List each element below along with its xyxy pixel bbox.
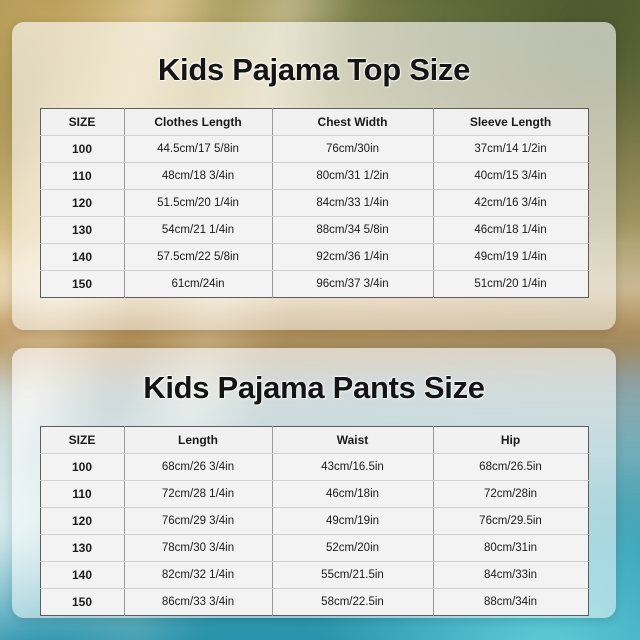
cell-value: 55cm/21.5in bbox=[272, 562, 433, 589]
cell-value: 68cm/26 3/4in bbox=[124, 454, 272, 481]
table-row: 120 76cm/29 3/4in 49cm/19in 76cm/29.5in bbox=[40, 508, 588, 535]
table-row: 100 68cm/26 3/4in 43cm/16.5in 68cm/26.5i… bbox=[40, 454, 588, 481]
cell-value: 78cm/30 3/4in bbox=[124, 535, 272, 562]
cell-size: 120 bbox=[40, 508, 124, 535]
table-row: 110 48cm/18 3/4in 80cm/31 1/2in 40cm/15 … bbox=[40, 163, 588, 190]
cell-value: 58cm/22.5in bbox=[272, 589, 433, 616]
cell-size: 110 bbox=[40, 163, 124, 190]
cell-value: 84cm/33in bbox=[433, 562, 588, 589]
cell-value: 88cm/34 5/8in bbox=[272, 217, 433, 244]
cell-value: 80cm/31in bbox=[433, 535, 588, 562]
cell-value: 96cm/37 3/4in bbox=[272, 271, 433, 298]
cell-value: 52cm/20in bbox=[272, 535, 433, 562]
cell-size: 130 bbox=[40, 535, 124, 562]
cell-value: 44.5cm/17 5/8in bbox=[124, 136, 272, 163]
cell-size: 140 bbox=[40, 244, 124, 271]
cell-value: 61cm/24in bbox=[124, 271, 272, 298]
cell-size: 150 bbox=[40, 271, 124, 298]
column-header-size: SIZE bbox=[40, 109, 124, 136]
table-row: 140 57.5cm/22 5/8in 92cm/36 1/4in 49cm/1… bbox=[40, 244, 588, 271]
table-row: 130 54cm/21 1/4in 88cm/34 5/8in 46cm/18 … bbox=[40, 217, 588, 244]
cell-value: 92cm/36 1/4in bbox=[272, 244, 433, 271]
cell-size: 110 bbox=[40, 481, 124, 508]
bottom-size-table: SIZE Length Waist Hip 100 68cm/26 3/4in … bbox=[40, 426, 589, 616]
column-header-c: Chest Width bbox=[272, 109, 433, 136]
column-header-size: SIZE bbox=[40, 427, 124, 454]
column-header-b: Clothes Length bbox=[124, 109, 272, 136]
top-size-card: Kids Pajama Top Size SIZE Clothes Length… bbox=[12, 22, 616, 330]
cell-size: 140 bbox=[40, 562, 124, 589]
cell-value: 80cm/31 1/2in bbox=[272, 163, 433, 190]
cell-value: 48cm/18 3/4in bbox=[124, 163, 272, 190]
bottom-size-title: Kids Pajama Pants Size bbox=[12, 370, 616, 406]
cell-value: 43cm/16.5in bbox=[272, 454, 433, 481]
cell-size: 100 bbox=[40, 136, 124, 163]
cell-value: 37cm/14 1/2in bbox=[433, 136, 588, 163]
table-row: 120 51.5cm/20 1/4in 84cm/33 1/4in 42cm/1… bbox=[40, 190, 588, 217]
cell-value: 40cm/15 3/4in bbox=[433, 163, 588, 190]
table-row: 130 78cm/30 3/4in 52cm/20in 80cm/31in bbox=[40, 535, 588, 562]
cell-value: 49cm/19 1/4in bbox=[433, 244, 588, 271]
cell-value: 51cm/20 1/4in bbox=[433, 271, 588, 298]
cell-value: 82cm/32 1/4in bbox=[124, 562, 272, 589]
cell-value: 76cm/29 3/4in bbox=[124, 508, 272, 535]
column-header-d: Hip bbox=[433, 427, 588, 454]
column-header-c: Waist bbox=[272, 427, 433, 454]
cell-value: 86cm/33 3/4in bbox=[124, 589, 272, 616]
column-header-d: Sleeve Length bbox=[433, 109, 588, 136]
cell-value: 72cm/28in bbox=[433, 481, 588, 508]
cell-value: 46cm/18 1/4in bbox=[433, 217, 588, 244]
size-chart-page: Kids Pajama Top Size SIZE Clothes Length… bbox=[0, 0, 640, 640]
cell-value: 49cm/19in bbox=[272, 508, 433, 535]
table-header-row: SIZE Clothes Length Chest Width Sleeve L… bbox=[40, 109, 588, 136]
cell-value: 42cm/16 3/4in bbox=[433, 190, 588, 217]
cell-size: 120 bbox=[40, 190, 124, 217]
cell-value: 68cm/26.5in bbox=[433, 454, 588, 481]
cell-value: 54cm/21 1/4in bbox=[124, 217, 272, 244]
table-row: 140 82cm/32 1/4in 55cm/21.5in 84cm/33in bbox=[40, 562, 588, 589]
cell-value: 72cm/28 1/4in bbox=[124, 481, 272, 508]
table-row: 100 44.5cm/17 5/8in 76cm/30in 37cm/14 1/… bbox=[40, 136, 588, 163]
table-header-row: SIZE Length Waist Hip bbox=[40, 427, 588, 454]
top-size-table: SIZE Clothes Length Chest Width Sleeve L… bbox=[40, 108, 589, 298]
table-row: 110 72cm/28 1/4in 46cm/18in 72cm/28in bbox=[40, 481, 588, 508]
cell-value: 46cm/18in bbox=[272, 481, 433, 508]
cell-size: 130 bbox=[40, 217, 124, 244]
cell-size: 150 bbox=[40, 589, 124, 616]
cell-value: 84cm/33 1/4in bbox=[272, 190, 433, 217]
table-row: 150 61cm/24in 96cm/37 3/4in 51cm/20 1/4i… bbox=[40, 271, 588, 298]
table-row: 150 86cm/33 3/4in 58cm/22.5in 88cm/34in bbox=[40, 589, 588, 616]
cell-value: 76cm/30in bbox=[272, 136, 433, 163]
cell-size: 100 bbox=[40, 454, 124, 481]
top-size-title: Kids Pajama Top Size bbox=[12, 52, 616, 88]
column-header-b: Length bbox=[124, 427, 272, 454]
cell-value: 57.5cm/22 5/8in bbox=[124, 244, 272, 271]
cell-value: 76cm/29.5in bbox=[433, 508, 588, 535]
cell-value: 51.5cm/20 1/4in bbox=[124, 190, 272, 217]
bottom-size-card: Kids Pajama Pants Size SIZE Length Waist… bbox=[12, 348, 616, 618]
cell-value: 88cm/34in bbox=[433, 589, 588, 616]
